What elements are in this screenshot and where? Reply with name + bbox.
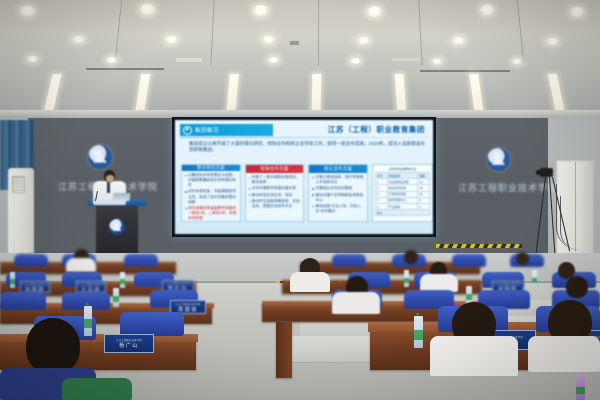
- water-bottle: [113, 288, 119, 307]
- column-bullet-list: 开展了一批中高职衔接项目，联合培养 合作开展教学资源共建共享 推动师资交流互派、…: [246, 173, 304, 210]
- hazard-stripe-tape: [436, 244, 522, 248]
- nameplate-affiliation: 江苏工程职业技术学院: [175, 302, 201, 306]
- slide-section-label: 集团概况: [195, 126, 219, 134]
- list-item: 开展订单班培养、现代学徒制人才培养试点: [315, 175, 365, 185]
- list-item: 研究成果获得省级教学成果奖一等奖1项，二等奖2项，获得多项荣誉: [188, 206, 238, 221]
- list-item: 近年来承担省、市级课题多项立项，形成了较为完善的理论成果: [188, 189, 238, 204]
- camera-cable: [560, 196, 579, 250]
- list-item: 合作开展教学资源共建共享: [252, 186, 302, 191]
- slide-title: 江苏（工程）职业教育集团: [328, 124, 425, 135]
- attendee-body-foreground: [62, 378, 132, 400]
- conference-hall-photo: 江苏工程职业技术学院 江苏工程职业技术学院 集团概况 江苏（工程）职业教育集团 …: [0, 0, 600, 400]
- slide-column: 校际合作方面 开展了一批中高职衔接项目，联合培养 合作开展教学资源共建共享 推动…: [245, 164, 305, 222]
- water-bottle: [120, 272, 125, 288]
- audience-chair: [0, 292, 46, 310]
- ceiling-downlight: [512, 59, 522, 64]
- attendee-body: [290, 272, 330, 292]
- column-bullet-list: 以集团化办学的理论与实践，开展职教集团化办学的理论研究 近年来承担省、市级课题多…: [182, 171, 240, 222]
- ceiling-downlight: [20, 6, 35, 16]
- ceiling-downlight: [350, 58, 361, 64]
- ceiling-downlight: [357, 37, 370, 44]
- attendee-head: [516, 252, 529, 265]
- list-item: 共建校企合作实训基地: [315, 186, 365, 191]
- slide-column: 理论研究方面 以集团化办学的理论与实践，开展职教集团化办学的理论研究 近年来承担…: [181, 164, 241, 222]
- ceiling-panel-seam: [318, 0, 319, 66]
- column-header: 校际合作方面: [246, 165, 304, 173]
- ceiling-downlight: [452, 37, 465, 44]
- slide-body-sentence: 集团成立以来开展了大量的理论研究、校际合作和校企合作等工作，取得一批合作成果。2…: [189, 141, 425, 152]
- nameplate-affiliation: 江苏工程职业技术学院: [495, 282, 521, 286]
- list-item: 推动师资交流互派、培训: [252, 193, 302, 198]
- column-header: 校企合作方面: [309, 165, 367, 173]
- water-bottle: [84, 306, 92, 336]
- institution-emblem-right: [487, 148, 510, 171]
- audience-chair: [120, 312, 184, 336]
- ceiling: [0, 0, 600, 118]
- ceiling-vent: [290, 41, 299, 45]
- audience-desk-side: [276, 322, 292, 378]
- ceiling-downlight: [262, 36, 275, 43]
- play-bullet-icon: [183, 126, 192, 135]
- camera-lens-icon: [536, 170, 541, 175]
- list-item: 以集团化办学的理论与实践，开展职教集团化办学的理论研究: [188, 173, 238, 188]
- institution-emblem-left: [88, 145, 112, 169]
- speaker-face: [106, 175, 114, 182]
- audience-chair: [452, 254, 486, 267]
- attendee-body: [66, 258, 96, 272]
- ceiling-beam: [86, 68, 164, 70]
- attendee-head: [404, 250, 418, 264]
- ceiling-strip-light: [312, 74, 322, 114]
- speaker-tie: [107, 182, 110, 193]
- ceiling-downlight: [140, 4, 155, 15]
- nameplate-affiliation: 江苏工程职业技术学院: [22, 282, 48, 286]
- slide-section-header: 集团概况: [180, 124, 273, 136]
- water-bottle: [576, 376, 585, 400]
- slide-column: 校企合作方面 开展订单班培养、现代学徒制人才培养试点 共建校企合作实训基地 推动…: [308, 164, 368, 222]
- audience-chair: [124, 254, 158, 267]
- attendee-head: [566, 276, 588, 298]
- attendee-body-foreground: [528, 336, 600, 372]
- table-caption: 近年合作成果统计表: [375, 167, 430, 171]
- air-conditioner-grille: [12, 176, 25, 193]
- water-bottle: [10, 272, 15, 288]
- attendee-head-foreground: [26, 318, 80, 374]
- slide-data-table: 序号 项目名称 数量 1 中高职衔接项目 12 2 校企合作基地 28: [375, 172, 430, 216]
- ceiling-diffuser: [392, 58, 420, 61]
- ceiling-downlight: [253, 5, 268, 16]
- list-item: 推动实施"引企入校、引校入企"合作模式: [315, 204, 365, 214]
- ceiling-downlight: [72, 36, 85, 43]
- video-camera: [540, 168, 553, 177]
- audience-chair: [332, 254, 366, 267]
- water-bottle: [404, 270, 409, 287]
- presentation-slide: 集团概况 江苏（工程）职业教育集团 集团成立以来开展了大量的理论研究、校际合作和…: [175, 120, 433, 234]
- ceiling-downlight: [268, 57, 279, 63]
- column-bullet-list: 开展订单班培养、现代学徒制人才培养试点 共建校企合作实训基地 推动共建产业学院和…: [309, 173, 367, 215]
- nameplate-name: 杨广山: [119, 342, 139, 349]
- podium-laptop: [112, 193, 130, 201]
- list-item: 推动学生技能竞赛指导、交流活动，搭建交流协作平台: [252, 199, 302, 209]
- ceiling-downlight: [367, 6, 382, 17]
- ceiling-downlight: [165, 36, 178, 43]
- desk-nameplate: 江苏工程职业技术学院 杨广山: [104, 334, 154, 353]
- table-footer-cell: 合计: [376, 210, 430, 216]
- bottle-cap: [416, 313, 419, 315]
- podium-emblem: [109, 219, 125, 235]
- list-item: 推动共建产业学院和技术研发中心: [315, 193, 365, 203]
- water-bottle: [414, 316, 423, 348]
- ceiling-downlight: [432, 59, 442, 64]
- ceiling-diffuser: [176, 58, 202, 62]
- ceiling-downlight: [106, 57, 117, 63]
- nameplate-affiliation: 江苏工程职业技术学院: [116, 338, 142, 342]
- ceiling-downlight: [546, 38, 559, 45]
- slide-body-text: 集团成立以来开展了大量的理论研究、校际合作和校企合作等工作，取得一批合作成果。2…: [189, 141, 425, 154]
- audience-chair: [14, 254, 48, 267]
- nameplate-name: 周国强: [178, 306, 198, 313]
- attendee-body-foreground: [430, 336, 518, 376]
- water-bottle: [532, 270, 537, 287]
- ceiling-beam: [420, 70, 510, 72]
- table-footer-row: 合计: [376, 210, 430, 216]
- slide-data-table-wrap: 近年合作成果统计表 序号 项目名称 数量 1 中高职衔接项目 12: [372, 164, 433, 222]
- slide-title-rule: [180, 137, 432, 138]
- nameplate-affiliation: 江苏工程职业技术学院: [165, 281, 191, 285]
- list-item: 开展了一批中高职衔接项目，联合培养: [252, 175, 302, 185]
- attendee-body: [332, 292, 380, 314]
- nameplate-affiliation: 江苏工程职业技术学院: [78, 282, 104, 286]
- bottle-cap: [86, 303, 89, 305]
- slide-columns: 理论研究方面 以集团化办学的理论与实践，开展职教集团化办学的理论研究 近年来承担…: [181, 164, 433, 222]
- ceiling-downlight: [480, 5, 494, 15]
- projection-screen: 集团概况 江苏（工程）职业教育集团 集团成立以来开展了大量的理论研究、校际合作和…: [172, 117, 436, 237]
- ceiling-downlight: [570, 7, 584, 17]
- slide-footer-dots: · · · · · ·: [181, 228, 209, 232]
- ceiling-downlight: [27, 56, 38, 62]
